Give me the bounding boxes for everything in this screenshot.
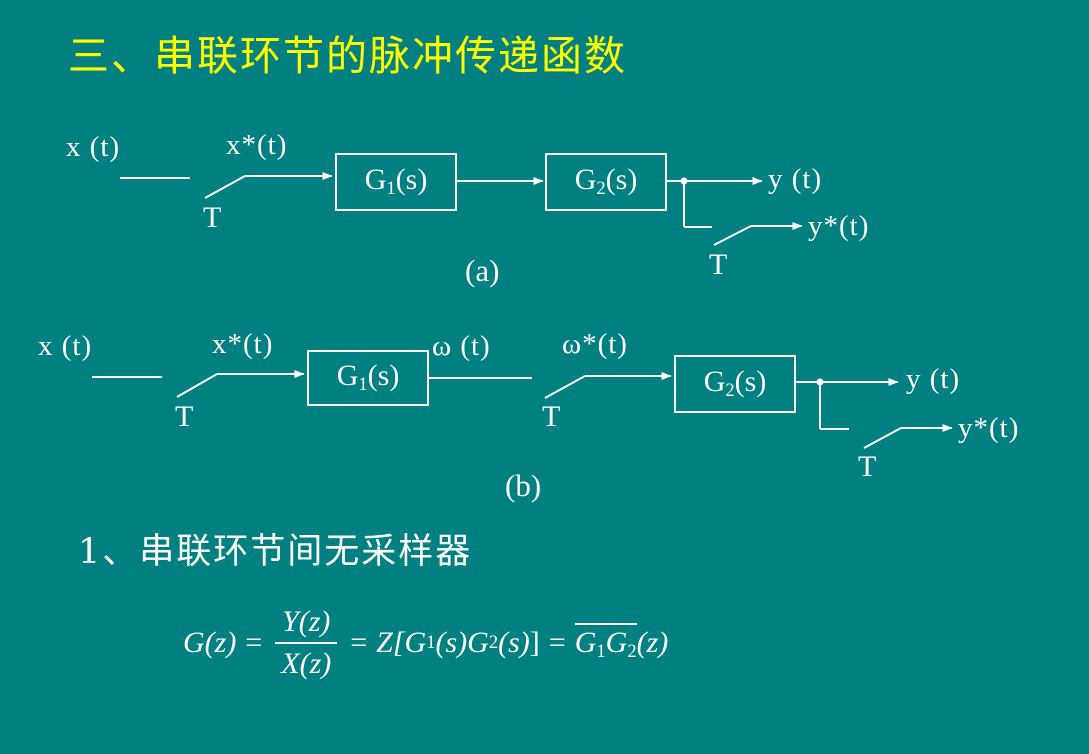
diagram-a-sampled-input-label: x*(t) — [226, 131, 287, 160]
formula-ov-g2: G — [606, 626, 628, 659]
diagram-a-sampler2-period-label: T — [709, 250, 727, 280]
diagram-a-caption: (a) — [465, 255, 499, 286]
formula-g1-arg: (s) — [435, 626, 467, 660]
formula-g2-sub: 2 — [489, 632, 498, 654]
formula-ov-g1-sub: 1 — [596, 641, 605, 662]
section-subheading: 1、串联环节间无采样器 — [78, 523, 472, 574]
diagram-b-block-g2-label: G2(s) — [704, 365, 767, 402]
diagram-a-block-g2-label: G2(s) — [575, 163, 638, 200]
formula-fraction: Y(z) X(z) — [275, 605, 337, 681]
diagram-a-sampler1-period-label: T — [203, 203, 221, 233]
formula-equals-1: = — [245, 626, 262, 660]
diagram-a-block-g2: G2(s) — [545, 153, 667, 211]
formula-lhs-fn: G — [183, 626, 205, 660]
transfer-function-formula: G(z) = Y(z) X(z) = Z[G1(s)G2(s)] = G1G2(… — [183, 605, 668, 681]
formula-overline-group: G1G2 — [575, 623, 637, 663]
diagram-b-input-label: x (t) — [38, 332, 92, 361]
formula-g1: G — [405, 626, 427, 660]
formula-ov-arg: (z) — [637, 626, 669, 660]
diagram-b-sampled-input-label: x*(t) — [212, 330, 273, 359]
diagram-b-caption: (b) — [505, 470, 541, 501]
page-title: 三、串联环节的脉冲传递函数 — [68, 22, 627, 82]
diagram-b-block-g2: G2(s) — [674, 355, 796, 413]
formula-z-transform-open: Z[ — [376, 626, 404, 660]
diagram-b-omega-sampled-label: ω*(t) — [562, 330, 628, 359]
formula-lhs-arg: (z) — [205, 626, 237, 660]
formula-bracket-close: ] — [530, 626, 540, 660]
formula-denominator: X(z) — [275, 642, 337, 681]
diagram-a-sampled-output-label: y*(t) — [808, 212, 869, 241]
formula-equals-2: = — [350, 626, 367, 660]
diagram-b-sampled-output-label: y*(t) — [958, 414, 1019, 443]
diagram-a-input-label: x (t) — [66, 133, 120, 162]
formula-equals-3: = — [549, 626, 566, 660]
formula-ov-g2-sub: 2 — [627, 641, 636, 662]
diagram-b-sampler2-period-label: T — [542, 402, 560, 432]
formula-ov-g1: G — [575, 626, 597, 659]
diagram-a-block-g1-label: G1(s) — [365, 163, 428, 200]
diagram-a-output-label: y (t) — [768, 165, 822, 194]
diagram-b-block-g1-label: G1(s) — [337, 359, 400, 396]
diagram-b-block-g1: G1(s) — [307, 350, 429, 406]
diagram-b-output-label: y (t) — [906, 365, 960, 394]
diagram-b-sampler1-period-label: T — [175, 402, 193, 432]
slide-canvas: 三、串联环节的脉冲传递函数 — [0, 0, 1089, 754]
diagram-b-omega-label: ω (t) — [432, 332, 491, 361]
formula-g1-sub: 1 — [426, 632, 435, 654]
diagram-a-block-g1: G1(s) — [335, 153, 457, 211]
formula-g2-arg: (s) — [498, 626, 530, 660]
formula-g2: G — [467, 626, 489, 660]
formula-numerator: Y(z) — [276, 605, 336, 642]
diagram-b-sampler3-period-label: T — [858, 452, 876, 482]
